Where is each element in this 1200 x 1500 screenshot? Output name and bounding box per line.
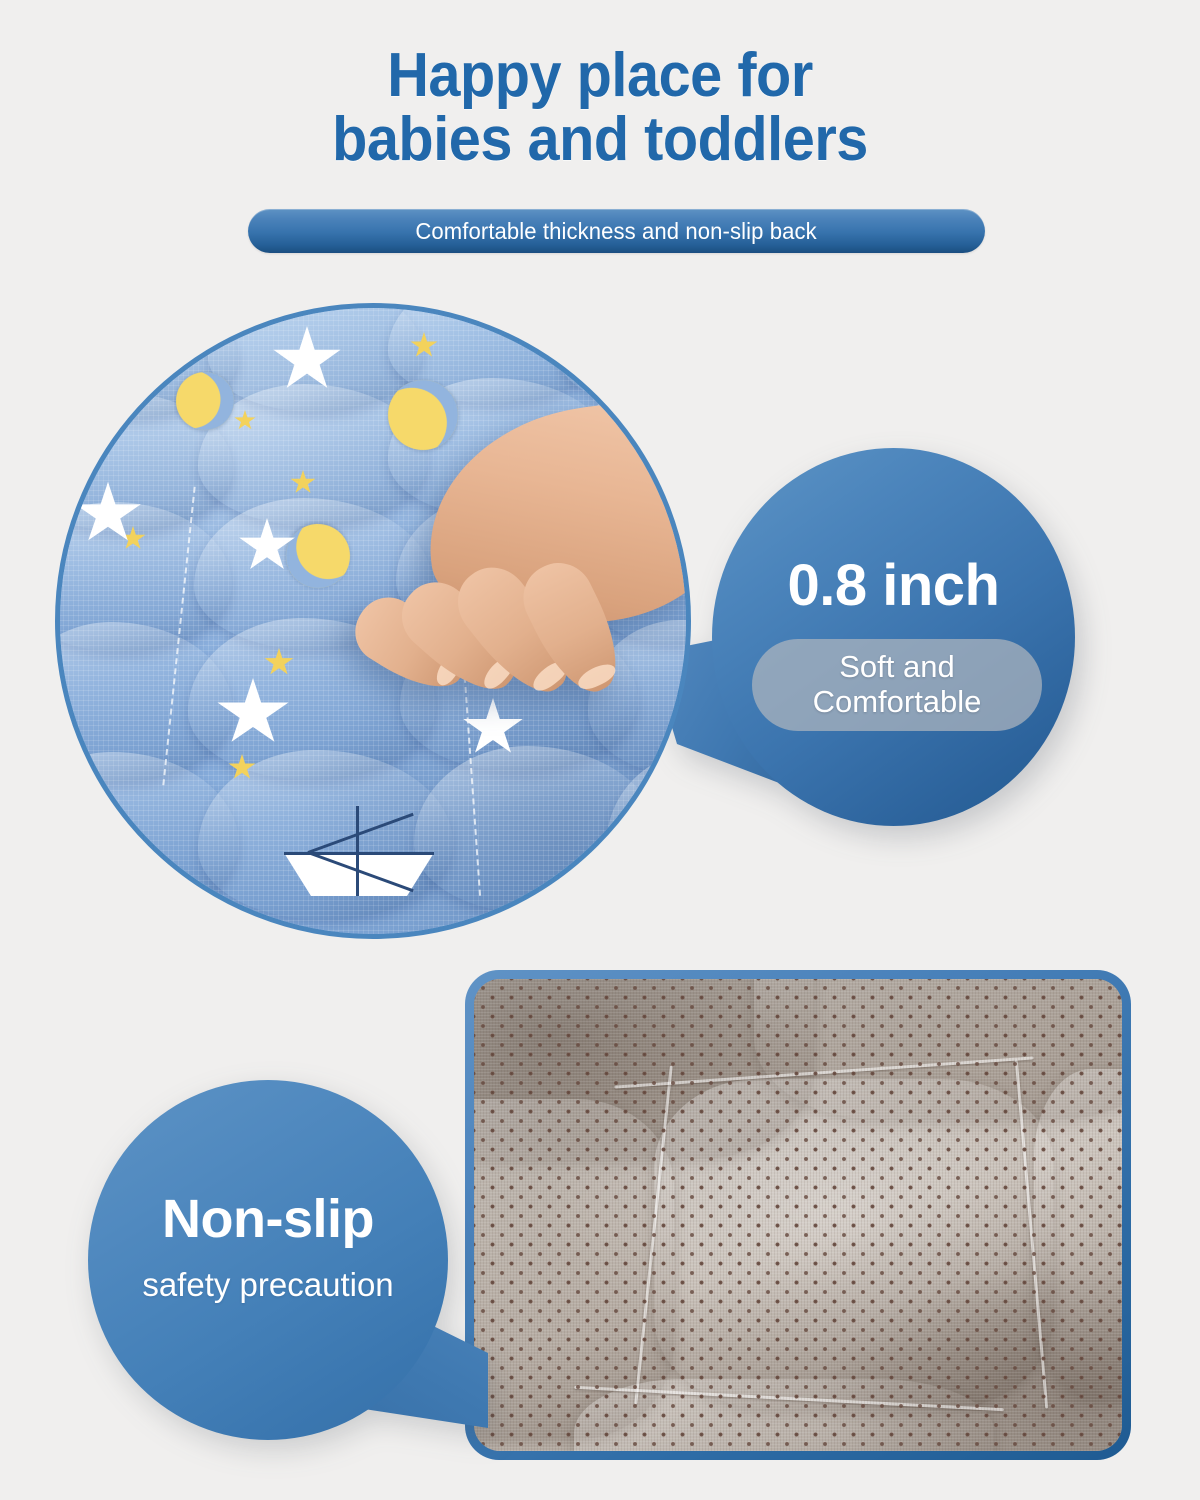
- nonslip-title: Non-slip: [88, 1188, 448, 1250]
- bubble-body: [88, 1080, 448, 1440]
- badge-line-1: Soft and: [839, 650, 954, 685]
- headline-line-1: Happy place for: [42, 44, 1158, 108]
- thickness-value: 0.8 inch: [712, 552, 1075, 619]
- thickness-photo-circle: [55, 303, 691, 939]
- subtitle-banner: Comfortable thickness and non-slip back: [248, 209, 985, 253]
- badge-line-2: Comfortable: [813, 685, 982, 720]
- infographic-stage: Happy place for babies and toddlers Comf…: [0, 0, 1200, 1500]
- nonslip-photo-frame: [465, 970, 1131, 1460]
- nonslip-subtitle: safety precaution: [80, 1266, 456, 1304]
- thickness-callout-bubble: 0.8 inch Soft and Comfortable: [650, 448, 1075, 826]
- headline-line-2: babies and toddlers: [42, 108, 1158, 172]
- hand-photo-element: [368, 410, 691, 710]
- soft-comfortable-badge: Soft and Comfortable: [752, 639, 1042, 731]
- boat-outline: [356, 806, 359, 896]
- nonslip-photo: [474, 979, 1122, 1451]
- subtitle-text: Comfortable thickness and non-slip back: [416, 218, 817, 245]
- nonslip-dots: [474, 979, 1122, 1451]
- nonslip-callout-bubble: Non-slip safety precaution: [88, 1080, 488, 1442]
- grip-fabric-photo: [474, 979, 1122, 1451]
- page-title: Happy place for babies and toddlers: [42, 44, 1158, 172]
- bubble-body: [712, 448, 1075, 826]
- mattress-pad-photo: [58, 306, 688, 936]
